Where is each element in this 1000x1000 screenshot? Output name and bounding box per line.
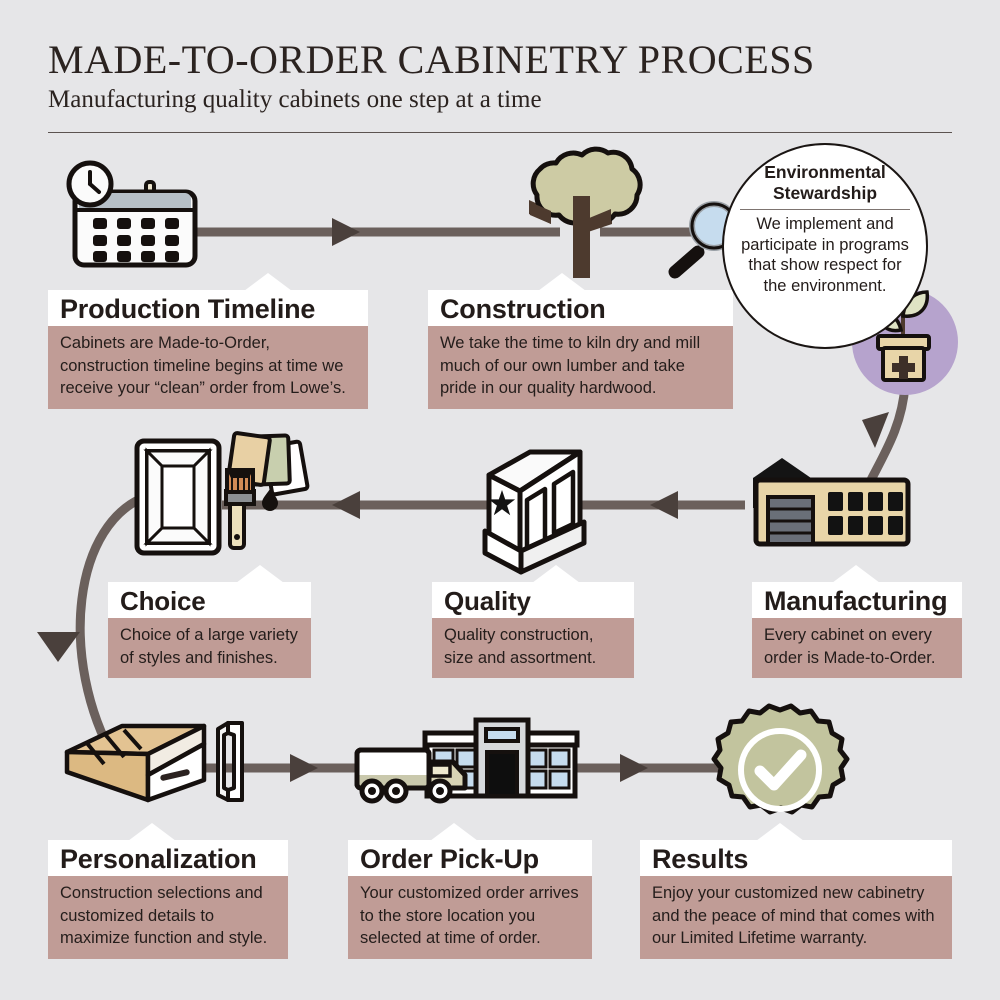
step-body: Choice of a large variety of styles and … (108, 618, 311, 678)
connector-row1 (196, 218, 700, 246)
drawer-handle-icon (67, 723, 242, 800)
check-badge-icon (714, 706, 847, 812)
step-card-production-timeline[interactable]: Production Timeline Cabinets are Made-to… (48, 290, 368, 409)
step-card-choice[interactable]: Choice Choice of a large variety of styl… (108, 582, 311, 678)
step-card-manufacturing[interactable]: Manufacturing Every cabinet on every ord… (752, 582, 962, 678)
step-body: Cabinets are Made-to-Order, construction… (48, 326, 368, 409)
step-title: Results (640, 840, 952, 876)
factory-icon (753, 458, 908, 544)
tree-icon (529, 149, 640, 278)
cabinet-pull-icon (218, 723, 242, 800)
step-title: Construction (428, 290, 733, 326)
truck-store-icon (357, 720, 577, 801)
connector-row2 (222, 491, 745, 519)
step-body: Enjoy your customized new cabinetry and … (640, 876, 952, 959)
step-title: Personalization (48, 840, 288, 876)
arrow-down-left (37, 632, 80, 662)
step-body: Quality construction, size and assortmen… (432, 618, 634, 678)
step-card-order-pick-up[interactable]: Order Pick-Up Your customized order arri… (348, 840, 592, 959)
callout-divider (740, 209, 910, 210)
step-title: Production Timeline (48, 290, 368, 326)
callout-environmental-stewardship[interactable]: Environmental Stewardship We implement a… (722, 143, 928, 349)
step-title: Quality (432, 582, 634, 618)
door-swatches-brush-icon (137, 433, 308, 553)
step-title: Choice (108, 582, 311, 618)
step-body: Construction selections and customized d… (48, 876, 288, 959)
step-card-construction[interactable]: Construction We take the time to kiln dr… (428, 290, 733, 409)
step-body: Your customized order arrives to the sto… (348, 876, 592, 959)
callout-body: We implement and participate in programs… (741, 214, 909, 296)
callout-title: Environmental Stewardship (750, 162, 900, 204)
infographic-canvas: MADE-TO-ORDER CABINETRY PROCESS Manufact… (0, 0, 1000, 1000)
cabinet-icon (485, 452, 584, 572)
step-card-results[interactable]: Results Enjoy your customized new cabine… (640, 840, 952, 959)
step-body: We take the time to kiln dry and mill mu… (428, 326, 733, 409)
step-body: Every cabinet on every order is Made-to-… (752, 618, 962, 678)
step-title: Manufacturing (752, 582, 962, 618)
calendar-clock-icon (69, 163, 195, 265)
step-card-quality[interactable]: Quality Quality construction, size and a… (432, 582, 634, 678)
step-title: Order Pick-Up (348, 840, 592, 876)
step-card-personalization[interactable]: Personalization Construction selections … (48, 840, 288, 959)
